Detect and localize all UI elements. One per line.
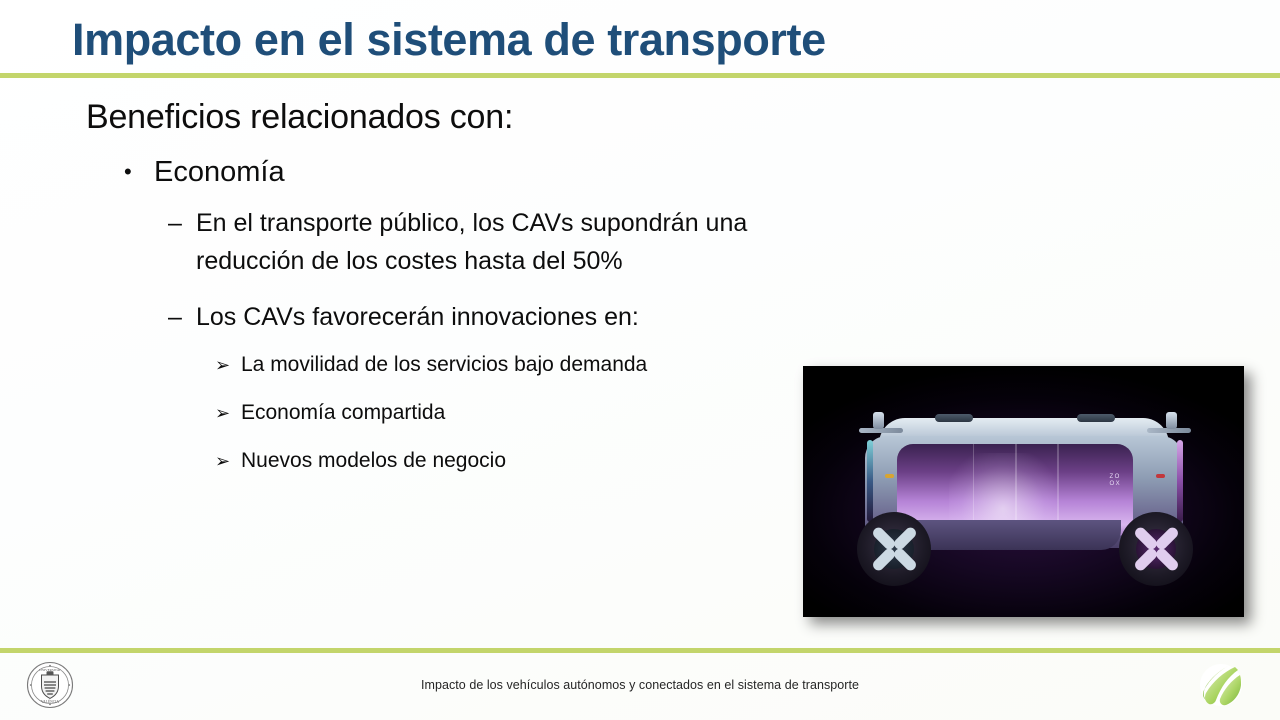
arrow-bullet-icon: ➢ bbox=[215, 442, 230, 480]
bullet-dot-icon: • bbox=[124, 152, 132, 192]
photo-backdrop: ZO OX bbox=[803, 366, 1244, 617]
bullet-level2-label: Economía bbox=[154, 156, 285, 188]
green-swoosh-logo bbox=[1196, 661, 1246, 709]
vehicle-lower-panel bbox=[909, 520, 1121, 550]
slide-title-area: Impacto en el sistema de transporte bbox=[0, 0, 1280, 74]
footer-divider bbox=[0, 648, 1280, 653]
bullet-level3-label: Los CAVs favorecerán innovaciones en: bbox=[196, 298, 790, 336]
arrow-bullet-icon: ➢ bbox=[215, 346, 230, 384]
bullet-level3-label: En el transporte público, los CAVs supon… bbox=[196, 204, 790, 280]
dash-bullet-icon: – bbox=[168, 298, 182, 336]
zoox-brand-text: ZO OX bbox=[1110, 474, 1121, 488]
svg-text:UNIVERSITAT: UNIVERSITAT bbox=[39, 668, 62, 672]
body-heading: Beneficios relacionados con: bbox=[86, 95, 790, 139]
bullet-level4-label: La movilidad de los servicios bajo deman… bbox=[241, 353, 647, 376]
slide-body: Beneficios relacionados con: • Economía … bbox=[0, 95, 790, 480]
bullet-level3-innovaciones: – Los CAVs favorecerán innovaciones en: bbox=[168, 298, 790, 336]
title-divider bbox=[0, 73, 1280, 78]
bullet-level4-negocio: ➢ Nuevos modelos de negocio bbox=[215, 442, 790, 480]
footer-caption: Impacto de los vehículos autónomos y con… bbox=[0, 678, 1280, 692]
bullet-level3-costes: – En el transporte público, los CAVs sup… bbox=[168, 204, 790, 280]
robotaxi-illustration: ZO OX bbox=[851, 414, 1199, 584]
roof-sensor-fin-icon bbox=[1077, 414, 1115, 422]
roof-sensor-fin-icon bbox=[935, 414, 973, 422]
upv-seal-logo: UNIVERSITAT VALÈNCIA bbox=[26, 661, 74, 709]
vehicle-rear-pillar bbox=[1177, 440, 1183, 522]
bullet-level4-movilidad: ➢ La movilidad de los servicios bajo dem… bbox=[215, 346, 790, 384]
vehicle-rear-wheel bbox=[1119, 512, 1193, 586]
front-marker-light-icon bbox=[885, 474, 894, 478]
rear-marker-light-icon bbox=[1156, 474, 1165, 478]
bullet-level2-economia: • Economía bbox=[124, 152, 790, 192]
arrow-bullet-icon: ➢ bbox=[215, 394, 230, 432]
presentation-slide: Impacto en el sistema de transporte Bene… bbox=[0, 0, 1280, 720]
svg-text:VALÈNCIA: VALÈNCIA bbox=[41, 699, 59, 704]
lidar-sensor-pod-icon bbox=[1166, 412, 1177, 429]
page-title: Impacto en el sistema de transporte bbox=[72, 14, 826, 66]
lidar-sensor-pod-icon bbox=[873, 412, 884, 429]
dash-bullet-icon: – bbox=[168, 204, 182, 242]
bullet-level4-compartida: ➢ Economía compartida bbox=[215, 394, 790, 432]
bullet-level4-label: Economía compartida bbox=[241, 401, 445, 424]
bullet-level4-label: Nuevos modelos de negocio bbox=[241, 449, 506, 472]
vehicle-front-wheel bbox=[857, 512, 931, 586]
vehicle-front-pillar bbox=[867, 440, 873, 522]
autonomous-robotaxi-photo: ZO OX bbox=[803, 366, 1244, 617]
